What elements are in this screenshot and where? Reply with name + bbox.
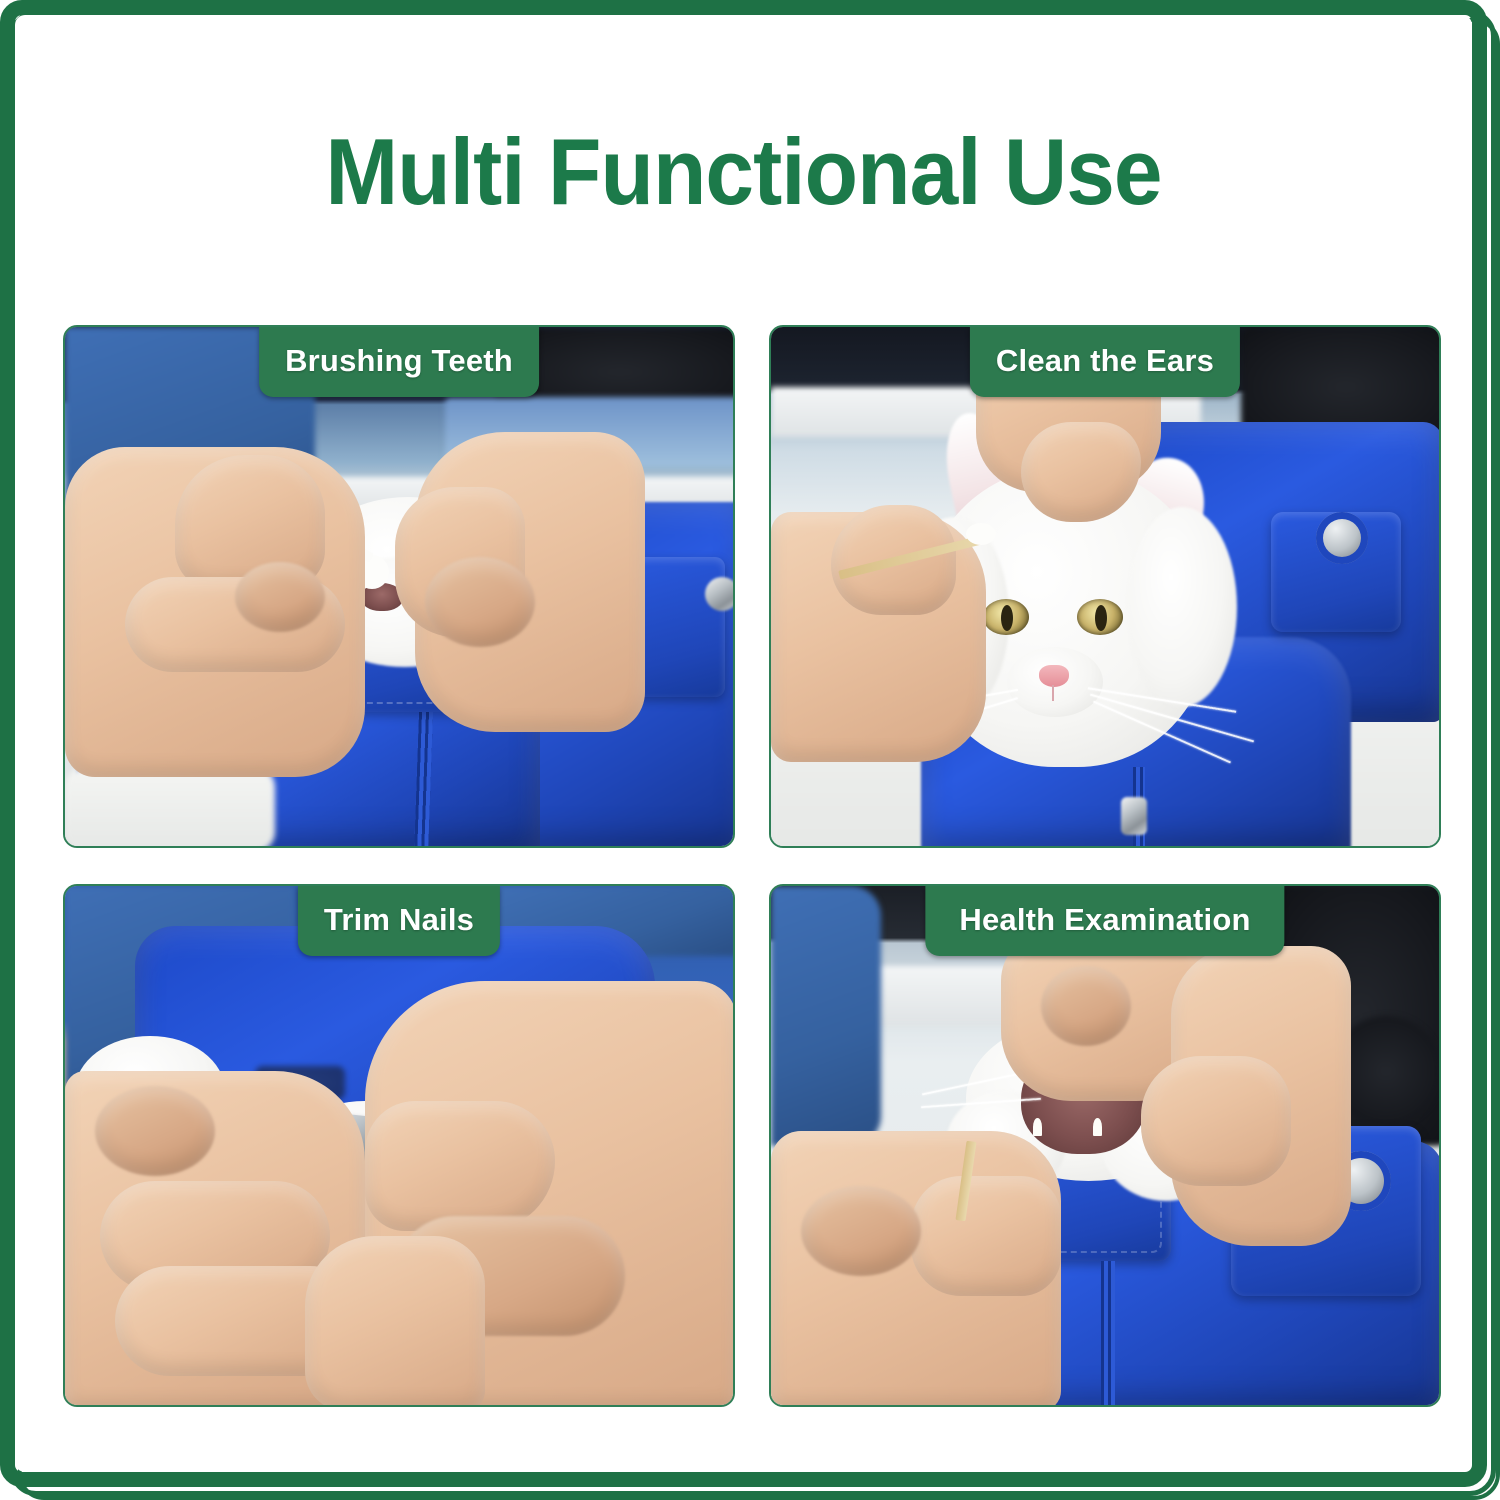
panel-label-brushing-teeth: Brushing Teeth (259, 327, 539, 397)
panel-photo-brushing-teeth (65, 327, 733, 846)
panel-brushing-teeth[interactable]: Brushing Teeth (63, 325, 735, 848)
feature-grid: Brushing Teeth (63, 325, 1441, 1407)
page-title: Multi Functional Use (66, 125, 1421, 219)
panel-trim-nails[interactable]: Trim Nails (63, 884, 735, 1407)
panel-photo-clean-the-ears (771, 327, 1439, 846)
panel-clean-the-ears[interactable]: Clean the Ears (769, 325, 1441, 848)
panel-health-examination[interactable]: Health Examination (769, 884, 1441, 1407)
panel-label-health-examination: Health Examination (925, 886, 1284, 956)
panel-label-clean-the-ears: Clean the Ears (970, 327, 1240, 397)
poster-content: Multi Functional Use (15, 15, 1472, 1472)
panel-photo-trim-nails (65, 886, 733, 1405)
panel-label-trim-nails: Trim Nails (298, 886, 500, 956)
product-infographic-poster: Multi Functional Use (0, 0, 1500, 1500)
panel-photo-health-examination (771, 886, 1439, 1405)
